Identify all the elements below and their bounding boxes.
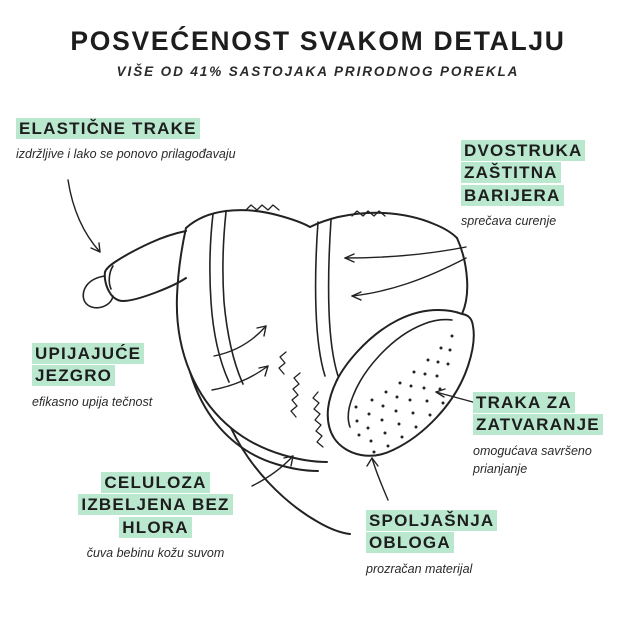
page-title: POSVEĆENOST SVAKOM DETALJU	[0, 26, 636, 57]
callout-heading-text: UPIJAJUĆE JEZGRO	[32, 343, 144, 386]
callout-upijajuce-jezgro: UPIJAJUĆE JEZGRO efikasno upija tečnost	[32, 343, 212, 411]
callout-heading: UPIJAJUĆE JEZGRO	[32, 343, 212, 388]
callout-traka-za-zatvaranje: TRAKA ZA ZATVARANJE omogućava savršeno p…	[473, 392, 633, 478]
page-subtitle: VIŠE OD 41% SASTOJAKA PRIRODNOG POREKLA	[0, 64, 636, 79]
callout-elasticne-trake: ELASTIČNE TRAKE izdržljive i lako se pon…	[16, 118, 266, 164]
callout-heading-text: ELASTIČNE TRAKE	[16, 118, 200, 139]
callout-heading: SPOLJAŠNJA OBLOGA	[366, 510, 546, 555]
callout-heading-text: DVOSTRUKA ZAŠTITNA BARIJERA	[461, 140, 585, 206]
callout-description: čuva bebinu kožu suvom	[48, 544, 263, 562]
callout-heading: DVOSTRUKA ZAŠTITNA BARIJERA	[461, 140, 626, 207]
infographic-page: POSVEĆENOST SVAKOM DETALJU VIŠE OD 41% S…	[0, 0, 636, 636]
callout-heading-text: TRAKA ZA ZATVARANJE	[473, 392, 603, 435]
callout-heading: CELULOZA IZBELJENA BEZ HLORA	[48, 472, 263, 539]
callout-description: efikasno upija tečnost	[32, 393, 212, 411]
callout-heading: TRAKA ZA ZATVARANJE	[473, 392, 633, 437]
callout-heading: ELASTIČNE TRAKE	[16, 118, 266, 140]
callout-description: omogućava savršeno prianjanje	[473, 442, 633, 478]
callout-description: prozračan materijal	[366, 560, 546, 578]
callout-spoljasnja-obloga: SPOLJAŠNJA OBLOGA prozračan materijal	[366, 510, 546, 578]
callout-heading-text: CELULOZA IZBELJENA BEZ HLORA	[78, 472, 232, 538]
callout-description: izdržljive i lako se ponovo prilagođavaj…	[16, 145, 266, 163]
callout-description: sprečava curenje	[461, 212, 626, 230]
callout-heading-text: SPOLJAŠNJA OBLOGA	[366, 510, 497, 553]
callout-dvostruka-zastitna-barijera: DVOSTRUKA ZAŠTITNA BARIJERA sprečava cur…	[461, 140, 626, 230]
callout-celuloza-izbeljena-bez-hlora: CELULOZA IZBELJENA BEZ HLORA čuva bebinu…	[48, 472, 263, 562]
